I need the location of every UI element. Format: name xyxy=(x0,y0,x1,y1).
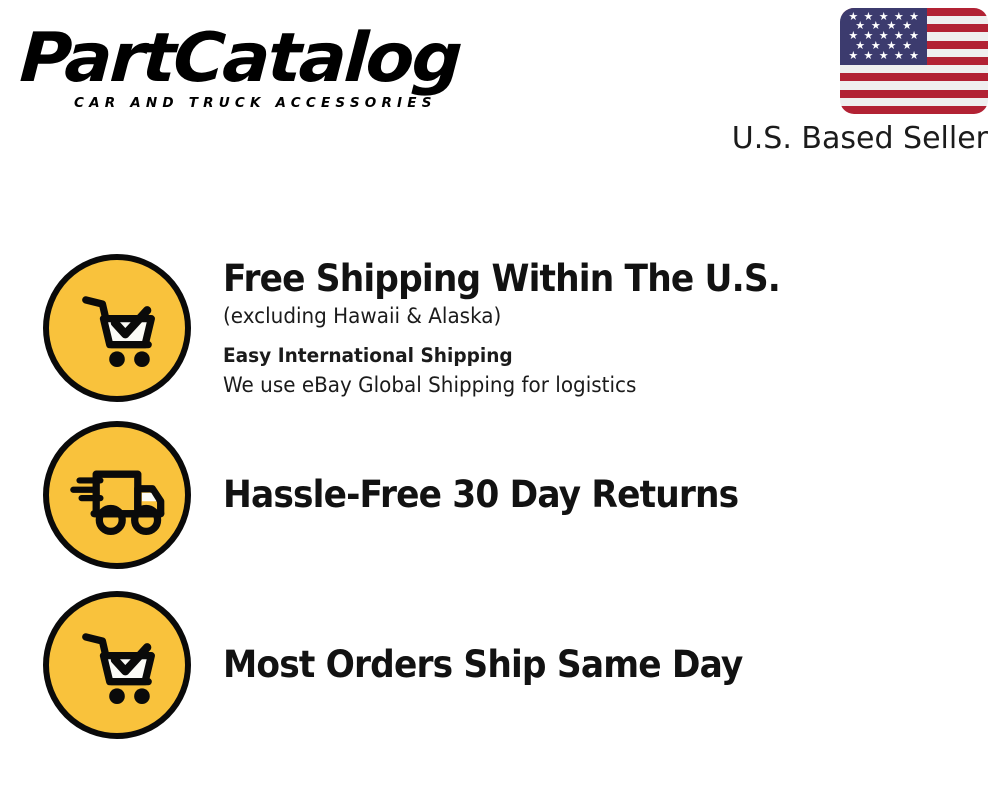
promo-banner: PartCatalog CAR AND TRUCK ACCESSORIES ★★… xyxy=(0,0,1000,800)
shopping-cart-check-icon xyxy=(43,254,191,402)
brand-wordmark: PartCatalog xyxy=(18,24,511,94)
feature-subtitle: (excluding Hawaii & Alaska) xyxy=(223,301,942,331)
feature-secondary-heading: Easy International Shipping xyxy=(223,341,942,371)
feature-row: Free Shipping Within The U.S. (excluding… xyxy=(0,248,1000,408)
delivery-truck-icon xyxy=(43,421,191,569)
feature-title: Most Orders Ship Same Day xyxy=(223,643,927,687)
feature-text-block: Free Shipping Within The U.S. (excluding… xyxy=(223,257,1000,400)
flag-star: ★ xyxy=(909,52,919,61)
flag-star: ★ xyxy=(879,52,889,61)
feature-row: Hassle-Free 30 Day Returns xyxy=(0,415,1000,575)
flag-canton: ★★★★★ ★★★★ ★★★★★ ★★★★ ★★★★★ xyxy=(840,8,927,65)
flag-star: ★ xyxy=(864,52,874,61)
feature-text-block: Hassle-Free 30 Day Returns xyxy=(223,473,1000,517)
feature-secondary-detail: We use eBay Global Shipping for logistic… xyxy=(223,371,942,400)
flag-star: ★ xyxy=(894,52,904,61)
brand-logo: PartCatalog CAR AND TRUCK ACCESSORIES xyxy=(22,24,492,116)
us-flag-icon: ★★★★★ ★★★★ ★★★★★ ★★★★ ★★★★★ xyxy=(840,8,988,114)
flag-star: ★ xyxy=(848,52,858,61)
feature-title: Free Shipping Within The U.S. xyxy=(223,257,927,301)
us-based-seller-badge: ★★★★★ ★★★★ ★★★★★ ★★★★ ★★★★★ U.S. Based S… xyxy=(726,8,988,156)
feature-title: Hassle-Free 30 Day Returns xyxy=(223,473,927,517)
us-based-seller-label: U.S. Based Seller xyxy=(726,122,988,156)
banner-header: PartCatalog CAR AND TRUCK ACCESSORIES ★★… xyxy=(0,0,1000,180)
feature-text-block: Most Orders Ship Same Day xyxy=(223,643,1000,687)
feature-row: Most Orders Ship Same Day xyxy=(0,585,1000,745)
shopping-cart-check-icon xyxy=(43,591,191,739)
